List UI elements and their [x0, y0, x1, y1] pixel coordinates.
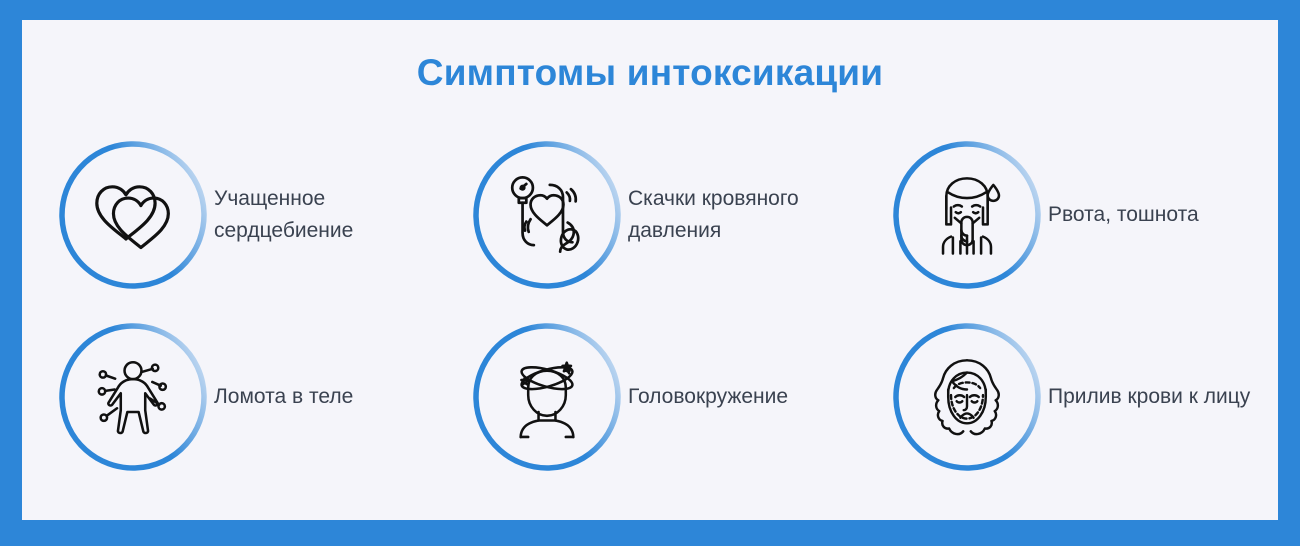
- symptom-item-body-ache: Ломота в теле: [22, 306, 436, 488]
- dizziness-head-icon: [500, 350, 594, 444]
- symptom-label: Учащенное сердцебиение: [214, 183, 436, 247]
- symptom-item-nausea: Рвота, тошнота: [856, 124, 1278, 306]
- icon-circle-body-ache: [58, 322, 208, 472]
- symptoms-grid: Учащенное сердцебиение: [22, 124, 1278, 494]
- blood-pressure-monitor-icon: [500, 168, 594, 262]
- infographic-panel: Симптомы интоксикации: [22, 20, 1278, 520]
- symptom-item-blood-pressure: Скачки кровяного давления: [436, 124, 856, 306]
- symptom-label: Ломота в теле: [214, 381, 353, 413]
- icon-circle-heartbeat: [58, 140, 208, 290]
- infographic-border-frame: Симптомы интоксикации: [0, 0, 1300, 546]
- double-heart-icon: [86, 168, 180, 262]
- symptom-item-dizziness: Головокружение: [436, 306, 856, 488]
- symptom-label: Головокружение: [628, 381, 788, 413]
- nausea-person-icon: [920, 168, 1014, 262]
- page-title: Симптомы интоксикации: [22, 52, 1278, 94]
- icon-circle-nausea: [892, 140, 1042, 290]
- symptom-item-heartbeat: Учащенное сердцебиение: [22, 124, 436, 306]
- symptom-label: Прилив крови к лицу: [1048, 381, 1250, 413]
- flushed-face-icon: [920, 350, 1014, 444]
- symptom-label: Скачки кровяного давления: [628, 183, 856, 247]
- icon-circle-blood-pressure: [472, 140, 622, 290]
- symptom-label: Рвота, тошнота: [1048, 199, 1199, 231]
- icon-circle-facial-flushing: [892, 322, 1042, 472]
- icon-circle-dizziness: [472, 322, 622, 472]
- body-ache-icon: [86, 350, 180, 444]
- symptom-item-facial-flushing: Прилив крови к лицу: [856, 306, 1278, 488]
